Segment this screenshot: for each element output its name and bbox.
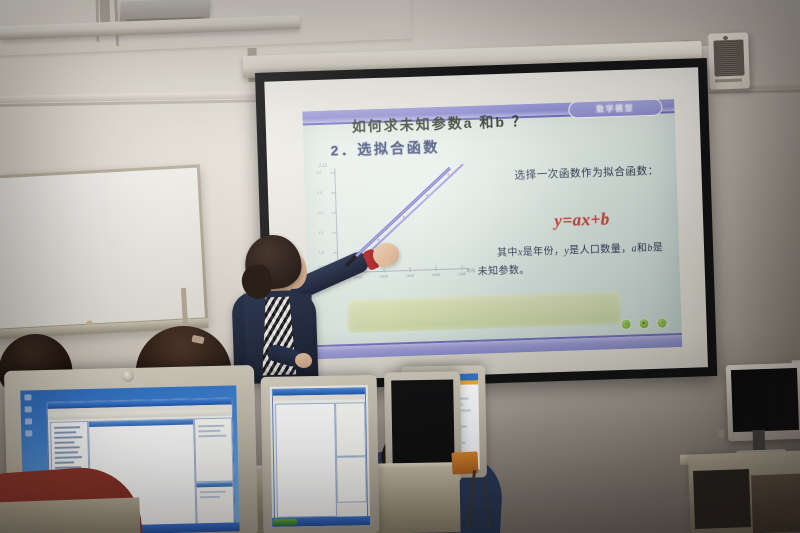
speaker-grill	[713, 39, 744, 76]
left-desk	[0, 497, 141, 533]
p2-pre: 其中	[497, 247, 518, 259]
chart-y-tick-label: 3.0	[316, 171, 321, 175]
crt-monitor-3-screen[interactable]	[391, 379, 455, 474]
slide-paragraph-1: 选择一次函数作为拟合函数：	[492, 161, 669, 186]
slide-nav-buttons[interactable]: ‹ ▸ ›	[620, 317, 667, 330]
tree-item[interactable]	[55, 456, 82, 458]
chart-y-tick-label: 2.0	[318, 211, 323, 215]
chart-y-tick-label: 2.5	[317, 191, 322, 195]
taskbar[interactable]	[272, 516, 370, 527]
side-pane[interactable]	[335, 402, 366, 457]
properties-pane[interactable]	[194, 417, 234, 482]
side-pane-lower[interactable]	[336, 456, 367, 503]
output-row	[200, 496, 220, 498]
tree-item[interactable]	[54, 426, 80, 428]
pointer-stick	[350, 168, 351, 169]
slide-badge: 数学模型	[568, 99, 663, 119]
tree-item[interactable]	[55, 446, 80, 448]
tree-item[interactable]	[54, 436, 82, 438]
tree-item[interactable]	[55, 441, 75, 443]
output-pane[interactable]	[196, 481, 235, 524]
document-window[interactable]	[272, 387, 368, 525]
tree-item[interactable]	[54, 431, 76, 433]
desktop-icon[interactable]	[24, 394, 31, 400]
chart-y-axis-label: 人口	[318, 163, 327, 169]
whiteboard-surface	[0, 168, 205, 329]
document-pane[interactable]	[275, 403, 337, 518]
slide-paragraph-2: 其中x是年份，y是人口数量，a和b是未知参数。	[477, 239, 674, 281]
property-row	[198, 435, 226, 437]
desktop-icon[interactable]	[25, 418, 32, 424]
crt-monitor-2-screen[interactable]	[270, 385, 370, 527]
slide-callout-box	[347, 291, 622, 333]
output-row	[200, 491, 226, 493]
classroom-photo: Redleaf 数学模型 2．选拟合函数 人口 年份	[0, 0, 800, 533]
sub-window-title[interactable]	[89, 419, 193, 427]
tree-item[interactable]	[55, 461, 74, 463]
window-menu-bar[interactable]	[273, 394, 365, 401]
slide-callout-text: 如何求未知参数a 和b ？	[302, 102, 577, 144]
slide-next-button[interactable]: ›	[656, 317, 667, 328]
tree-item[interactable]	[55, 451, 78, 453]
whiteboard	[0, 164, 209, 339]
p2-mid: 是年份，	[523, 246, 565, 258]
slide-play-button[interactable]: ▸	[638, 318, 649, 329]
slide-prev-button[interactable]: ‹	[620, 319, 631, 330]
desktop-icon[interactable]	[25, 430, 32, 436]
slide-formula: y=ax+b	[494, 207, 671, 233]
property-row	[198, 430, 220, 432]
speaker-led	[723, 36, 728, 40]
output-pane-title	[197, 483, 233, 488]
p2-mid2: 是人口数量，	[569, 244, 632, 257]
start-button[interactable]	[273, 518, 297, 525]
desktop-icon[interactable]	[25, 406, 32, 412]
property-row	[198, 425, 224, 427]
